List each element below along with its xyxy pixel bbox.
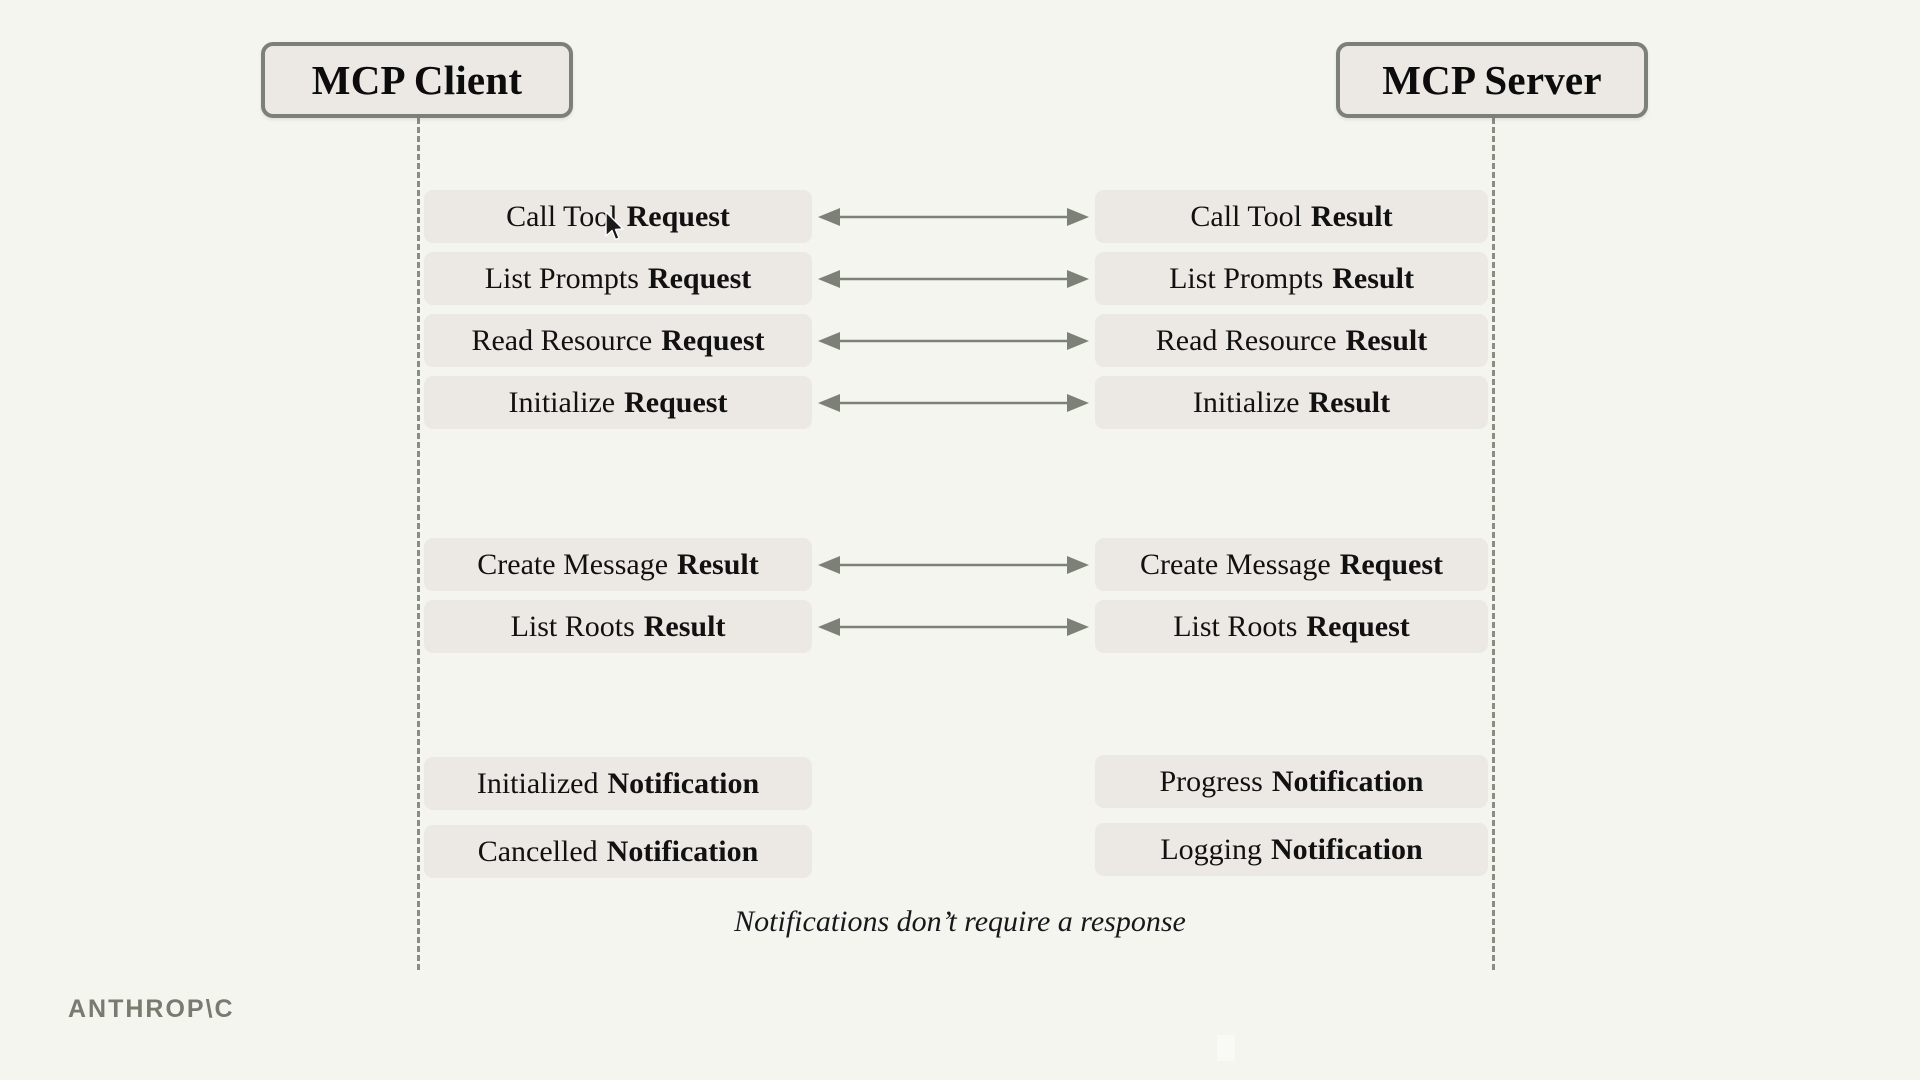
message-kind-label: Call Tool [1190, 200, 1302, 234]
message-box-left[interactable]: CancelledNotification [424, 825, 812, 878]
message-kind-label: Logging [1160, 833, 1262, 867]
actor-box-client[interactable]: MCP Client [261, 42, 573, 118]
message-box-right[interactable]: Read ResourceResult [1095, 314, 1488, 367]
message-type-label: Result [644, 610, 726, 644]
message-type-label: Result [1308, 386, 1390, 420]
message-box-right[interactable]: Call ToolResult [1095, 190, 1488, 243]
message-type-label: Notification [607, 767, 759, 801]
message-kind-label: Initialized [477, 767, 599, 801]
message-box-right[interactable]: ProgressNotification [1095, 755, 1488, 808]
message-box-left[interactable]: Read ResourceRequest [424, 314, 812, 367]
message-box-right[interactable]: InitializeResult [1095, 376, 1488, 429]
bidirectional-arrow [818, 553, 1089, 577]
anthropic-wordmark: ANTHROP\C [68, 995, 235, 1024]
message-box-left[interactable]: Create MessageResult [424, 538, 812, 591]
message-kind-label: List Roots [1173, 610, 1297, 644]
bidirectional-arrow [818, 329, 1089, 353]
bidirectional-arrow [818, 391, 1089, 415]
message-box-right[interactable]: LoggingNotification [1095, 823, 1488, 876]
message-box-left[interactable]: InitializeRequest [424, 376, 812, 429]
message-type-label: Request [1306, 610, 1409, 644]
message-kind-label: Initialize [509, 386, 616, 420]
message-type-label: Request [624, 386, 727, 420]
message-kind-label: Cancelled [478, 835, 598, 869]
message-type-label: Result [1311, 200, 1393, 234]
message-kind-label: List Prompts [485, 262, 639, 296]
message-box-right[interactable]: List RootsRequest [1095, 600, 1488, 653]
message-kind-label: List Prompts [1169, 262, 1323, 296]
message-box-right[interactable]: List PromptsResult [1095, 252, 1488, 305]
message-type-label: Notification [1271, 833, 1423, 867]
message-kind-label: Read Resource [471, 324, 652, 358]
message-kind-label: Call Tool [506, 200, 618, 234]
message-type-label: Request [1340, 548, 1443, 582]
message-type-label: Request [648, 262, 751, 296]
message-type-label: Result [1332, 262, 1414, 296]
actor-label-server: MCP Server [1382, 56, 1601, 104]
message-box-left[interactable]: List RootsResult [424, 600, 812, 653]
mouse-pointer-icon [604, 211, 626, 243]
message-type-label: Result [1346, 324, 1428, 358]
actor-box-server[interactable]: MCP Server [1336, 42, 1648, 118]
diagram-canvas: MCP Client MCP Server Call ToolRequestCa… [0, 0, 1920, 1080]
bidirectional-arrow [818, 615, 1089, 639]
message-type-label: Notification [607, 835, 759, 869]
message-type-label: Result [677, 548, 759, 582]
message-box-left[interactable]: List PromptsRequest [424, 252, 812, 305]
message-kind-label: Create Message [1140, 548, 1331, 582]
render-artifact [1217, 1035, 1235, 1061]
lifeline-server [1492, 118, 1495, 970]
lifeline-client [417, 118, 420, 970]
message-box-right[interactable]: Create MessageRequest [1095, 538, 1488, 591]
message-kind-label: Progress [1160, 765, 1263, 799]
message-kind-label: Create Message [477, 548, 668, 582]
message-type-label: Request [661, 324, 764, 358]
message-kind-label: Initialize [1193, 386, 1300, 420]
bidirectional-arrow [818, 205, 1089, 229]
message-type-label: Request [627, 200, 730, 234]
message-type-label: Notification [1272, 765, 1424, 799]
actor-label-client: MCP Client [312, 56, 522, 104]
notifications-caption: Notifications don’t require a response [0, 905, 1920, 939]
message-kind-label: Read Resource [1156, 324, 1337, 358]
bidirectional-arrow [818, 267, 1089, 291]
message-kind-label: List Roots [511, 610, 635, 644]
message-box-left[interactable]: InitializedNotification [424, 757, 812, 810]
